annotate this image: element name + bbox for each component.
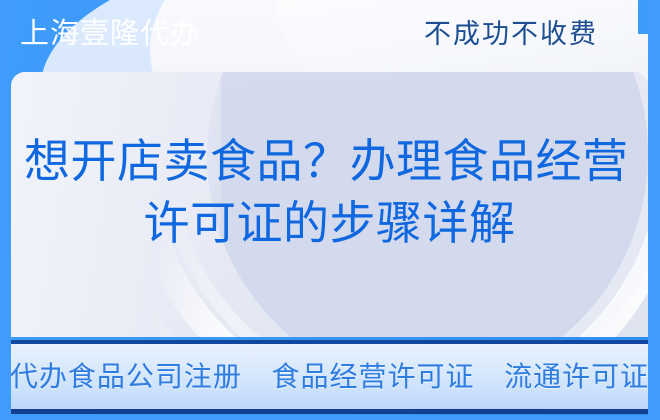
- headline-line-1: 想开店卖食品？办理食品经营: [11, 130, 648, 192]
- keyword-item-2[interactable]: 流通许可证: [504, 361, 649, 392]
- headline-line-2: 许可证的步骤详解: [11, 192, 648, 254]
- brand-title: 上海壹隆代办: [20, 16, 200, 52]
- slogan-text: 不成功不收费: [386, 16, 636, 52]
- keyword-bar: 代办食品公司注册 食品经营许可证 流通许可证: [11, 340, 648, 414]
- keyword-list: 代办食品公司注册 食品经营许可证 流通许可证: [10, 360, 649, 394]
- left-edge-frame: [0, 0, 11, 420]
- promo-banner: 上海壹隆代办 不成功不收费 想开店卖食品？办理食品经营 许可证的步骤详解 代办食…: [0, 0, 660, 420]
- right-edge-frame: [648, 0, 660, 420]
- keyword-item-0[interactable]: 代办食品公司注册: [10, 361, 242, 392]
- page-title: 想开店卖食品？办理食品经营 许可证的步骤详解: [11, 130, 648, 254]
- keyword-item-1[interactable]: 食品经营许可证: [272, 361, 475, 392]
- keyword-bar-inner: 代办食品公司注册 食品经营许可证 流通许可证: [11, 344, 648, 409]
- bottom-edge-frame: [0, 415, 660, 420]
